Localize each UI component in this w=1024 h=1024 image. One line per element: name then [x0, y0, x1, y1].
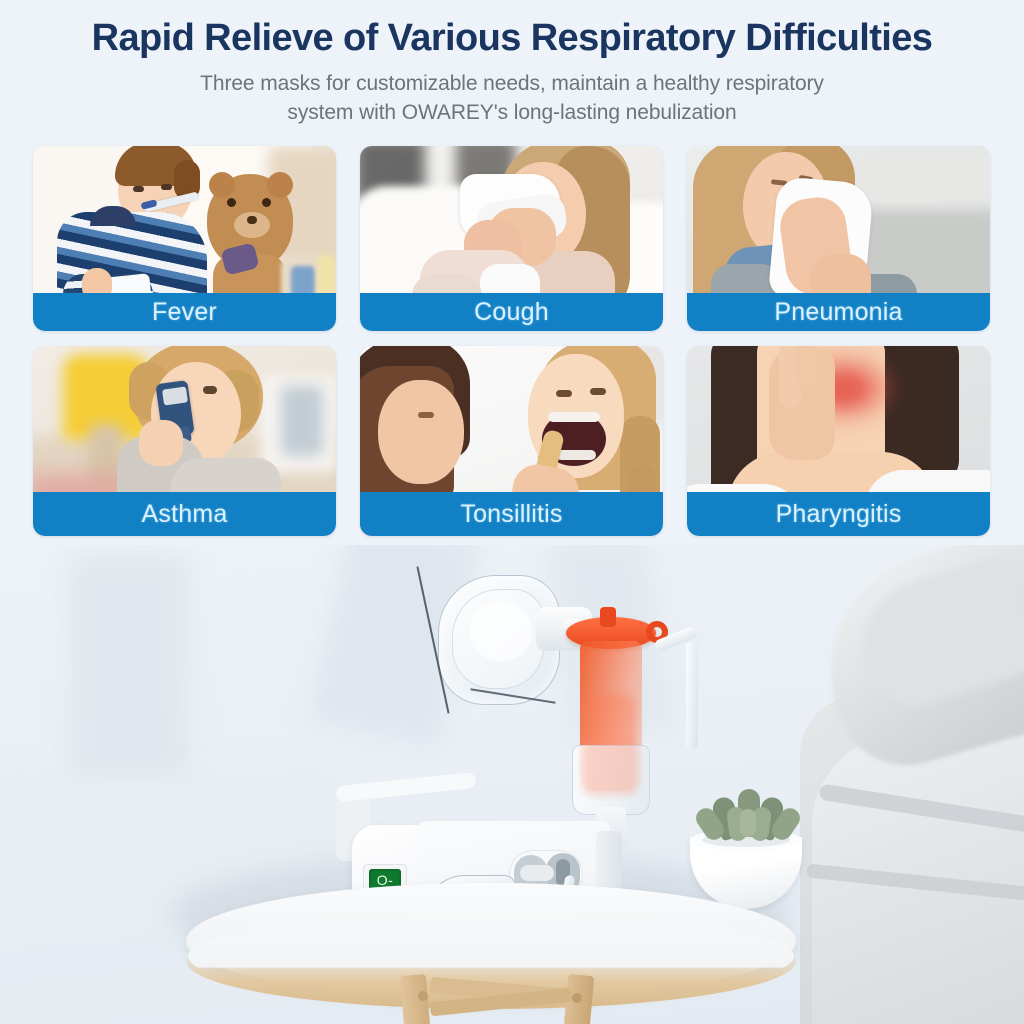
condition-card-cough[interactable]: Cough — [360, 146, 663, 331]
condition-card-label: Fever — [33, 293, 336, 331]
product-infographic-page: Rapid Relieve of Various Respiratory Dif… — [0, 0, 1024, 1024]
condition-card-label: Pharyngitis — [687, 492, 990, 536]
condition-card-pneumonia[interactable]: Pneumonia — [687, 146, 990, 331]
header: Rapid Relieve of Various Respiratory Dif… — [0, 0, 1024, 128]
page-subtitle-line-1: Three masks for customizable needs, main… — [0, 70, 1024, 99]
condition-card-label: Pneumonia — [687, 293, 990, 331]
condition-card-label: Cough — [360, 293, 663, 331]
condition-card-fever[interactable]: Fever — [33, 146, 336, 331]
page-subtitle-line-2: system with OWAREY's long-lasting nebuli… — [0, 99, 1024, 128]
condition-card-asthma[interactable]: Asthma — [33, 346, 336, 536]
condition-card-tonsillitis[interactable]: Tonsillitis — [360, 346, 663, 536]
condition-card-label: Asthma — [33, 492, 336, 536]
condition-card-pharyngitis[interactable]: Pharyngitis — [687, 346, 990, 536]
condition-card-label: Tonsillitis — [360, 492, 663, 536]
page-title: Rapid Relieve of Various Respiratory Dif… — [0, 18, 1024, 60]
condition-card-grid: Fever — [33, 146, 991, 536]
page-subtitle: Three masks for customizable needs, main… — [0, 70, 1024, 128]
product-lifestyle-photo: O- — [0, 545, 1024, 1024]
